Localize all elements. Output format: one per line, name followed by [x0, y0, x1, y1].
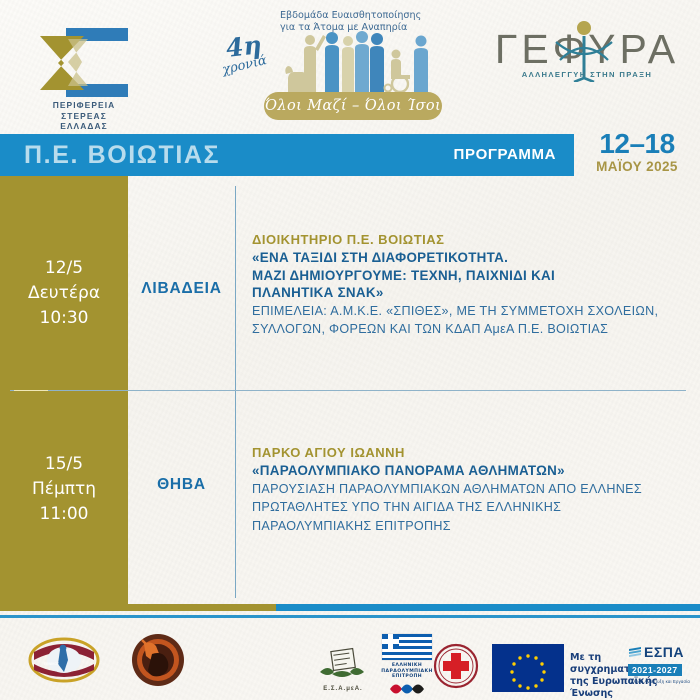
espa-tagline: Ελλάδα Ανάπτυξη και Εργασία: [628, 679, 698, 684]
event-body-line-2: ΠΡΩΤΑΘΛΗΤΕΣ ΥΠΟ ΤΗΝ ΑΙΓΙΔΑ ΤΗΣ ΕΛΛΗΝΙΚΗΣ: [252, 499, 692, 517]
date-range: 12–18: [578, 128, 696, 160]
event-city: ΘΗΒΑ: [157, 476, 206, 493]
event-date-cell: 12/5 Δευτέρα 10:30: [0, 256, 128, 331]
event-date: 15/5: [0, 452, 128, 477]
municipality-emblem-logo: [130, 632, 186, 688]
event-date-cell: 15/5 Πέμπτη 11:00: [0, 452, 128, 527]
gefyra-logo: ΓΕΦΥΡΑ ΑΛΛΗΛΕΓΓΥΗ ΣΤΗΝ ΠΡΑΞΗ: [492, 20, 682, 98]
espa-logo: ΕΣΠΑ 2021-2027 Ελλάδα Ανάπτυξη και Εργασ…: [628, 644, 698, 684]
event-day: Πέμπτη: [0, 477, 128, 502]
agitos-paralympic-icon: [386, 680, 428, 698]
event-detail-cell: ΠΑΡΚΟ ΑΓΙΟΥ ΙΩΑΝΝΗ «ΠΑΡΑΟΛΥΜΠΙΑΚΟ ΠΑΝΟΡΑ…: [252, 444, 692, 535]
programme-label: ΠΡΟΓΡΑΜΜΑ: [454, 146, 556, 163]
campaign-tagline: Όλοι Μαζί – Όλοι Ίσοι: [265, 98, 441, 114]
campaign-year-badge: 4η χρονιά: [222, 32, 284, 88]
event-title-line-3: ΠΛΑΝΗΤΙΚΑ ΣΝΑΚ»: [252, 284, 692, 302]
date-badge: 12–18 ΜΑΪΟΥ 2025: [578, 128, 696, 180]
page-title: Π.Ε. ΒΟΙΩΤΙΑΣ: [24, 141, 220, 170]
event-body-line-1: ΠΑΡΟΥΣΙΑΣΗ ΠΑΡΑΟΛΥΜΠΙΑΚΩΝ ΑΘΛΗΜΑΤΩΝ ΑΠΟ …: [252, 481, 692, 499]
eu-flag-icon: [492, 644, 564, 692]
month-year: ΜΑΪΟΥ 2025: [578, 159, 696, 174]
event-time: 11:00: [0, 502, 128, 527]
sports-federation-logo: ΕΘΝΙΚΟΣ: [28, 634, 100, 686]
event-title-line-2: ΜΑΖΙ ΔΗΜΙΟΥΡΓΟΥΜΕ: ΤΕΧΝΗ, ΠΑΙΧΝΙΔΙ ΚΑΙ: [252, 267, 692, 285]
perifereia-stereas-elladas-logo: ΠΕΡΙΦΕΡΕΙΑ ΣΤΕΡΕΑΣ ΕΛΛΑΔΑΣ: [28, 24, 140, 128]
event-venue: ΠΑΡΚΟ ΑΓΙΟΥ ΙΩΑΝΝΗ: [252, 444, 692, 461]
programme-title-bar: Π.Ε. ΒΟΙΩΤΙΑΣ ΠΡΟΓΡΑΜΜΑ: [0, 134, 574, 176]
people-silhouettes-icon: [282, 30, 432, 92]
event-title-line-1: «ΕΝΑ ΤΑΞΙΔΙ ΣΤΗ ΔΙΑΦΟΡΕΤΙΚΟΤΗΤΑ.: [252, 249, 692, 267]
table-row: 15/5 Πέμπτη 11:00 ΘΗΒΑ ΠΑΡΚΟ ΑΓΙΟΥ ΙΩΑΝΝ…: [0, 392, 700, 604]
paralympic-line-3: ΕΠΙΤΡΟΠΗ: [378, 674, 436, 680]
event-city: ΛΙΒΑΔΕΙΑ: [141, 280, 221, 297]
event-date: 12/5: [0, 256, 128, 281]
footer-rule-blue: [276, 604, 700, 611]
event-body-line-2: ΣΥΛΛΟΓΩΝ, ΦΟΡΕΩΝ ΚΑΙ ΤΩΝ ΚΔΑΠ ΑμεΑ Π.Ε. …: [252, 321, 692, 339]
paralympic-committee-text: ΕΛΛΗΝΙΚΗ ΠΑΡΑΟΛΥΜΠΙΑΚΗ ΕΠΙΤΡΟΠΗ: [378, 663, 436, 680]
greek-flag-icon: [378, 632, 436, 662]
event-venue: ΔΙΟΙΚΗΤΗΡΙΟ Π.Ε. ΒΟΙΩΤΙΑΣ: [252, 231, 692, 248]
region-line-2: ΣΤΕΡΕΑΣ: [28, 111, 140, 122]
campaign-title-line-1: Εβδομάδα Ευαισθητοποίησης: [280, 10, 470, 22]
event-detail-cell: ΔΙΟΙΚΗΤΗΡΙΟ Π.Ε. ΒΟΙΩΤΙΑΣ «ΕΝΑ ΤΑΞΙΔΙ ΣΤ…: [252, 231, 692, 339]
event-time: 10:30: [0, 306, 128, 331]
espa-years: 2021-2027: [628, 664, 682, 676]
espa-wordmark: ΕΣΠΑ: [644, 644, 684, 660]
event-body-line-1: ΕΠΙΜΕΛΕΙΑ: Α.Μ.Κ.Ε. «ΣΠΙΘΕΣ», ΜΕ ΤΗ ΣΥΜΜ…: [252, 303, 692, 321]
esamea-label: Ε.Σ.Α.μεΑ.: [316, 686, 370, 692]
event-city-cell: ΛΙΒΑΔΕΙΑ: [128, 280, 235, 298]
event-day: Δευτέρα: [0, 281, 128, 306]
region-logo-text: ΠΕΡΙΦΕΡΕΙΑ ΣΤΕΡΕΑΣ ΕΛΛΑΔΑΣ: [28, 100, 140, 132]
region-sigma-icon: [38, 34, 100, 92]
footer-rule-olive: [0, 604, 276, 611]
poster-canvas: ΠΕΡΙΦΕΡΕΙΑ ΣΤΕΡΕΑΣ ΕΛΛΑΔΑΣ Εβδομάδα Ευαι…: [0, 0, 700, 700]
svg-text:ΕΘΝΙΚΟΣ: ΕΘΝΙΚΟΣ: [44, 662, 59, 666]
region-line-3: ΕΛΛΑΔΑΣ: [28, 121, 140, 132]
esamea-logo: [314, 644, 370, 688]
event-city-cell: ΘΗΒΑ: [128, 476, 235, 494]
footer-rule-blue-thin: [0, 615, 700, 618]
footer-logo-strip: ΕΘΝΙΚΟΣ Ε.Σ.Α.μεΑ.: [0, 620, 700, 700]
espa-mark-icon: [628, 645, 642, 659]
row-divider: [10, 390, 686, 391]
campaign-tagline-pill: Όλοι Μαζί – Όλοι Ίσοι: [264, 92, 442, 120]
header-logo-band: ΠΕΡΙΦΕΡΕΙΑ ΣΤΕΡΕΑΣ ΕΛΛΑΔΑΣ Εβδομάδα Ευαι…: [0, 0, 700, 132]
table-row: 12/5 Δευτέρα 10:30 ΛΙΒΑΔΕΙΑ ΔΙΟΙΚΗΤΗΡΙΟ …: [0, 176, 700, 390]
event-body-line-3: ΠΑΡΑΟΛΥΜΠΙΑΚΗΣ ΕΠΙΤΡΟΠΗΣ: [252, 518, 692, 536]
event-title-line-1: «ΠΑΡΑΟΛΥΜΠΙΑΚΟ ΠΑΝΟΡΑΜΑ ΑΘΛΗΜΑΤΩΝ»: [252, 462, 692, 480]
gefyra-tagline: ΑΛΛΗΛΕΓΓΥΗ ΣΤΗΝ ΠΡΑΞΗ: [492, 70, 682, 79]
red-cross-logo: [432, 642, 480, 690]
awareness-week-logo: Εβδομάδα Ευαισθητοποίησης για τα Άτομα μ…: [218, 8, 468, 126]
region-line-1: ΠΕΡΙΦΕΡΕΙΑ: [28, 100, 140, 111]
